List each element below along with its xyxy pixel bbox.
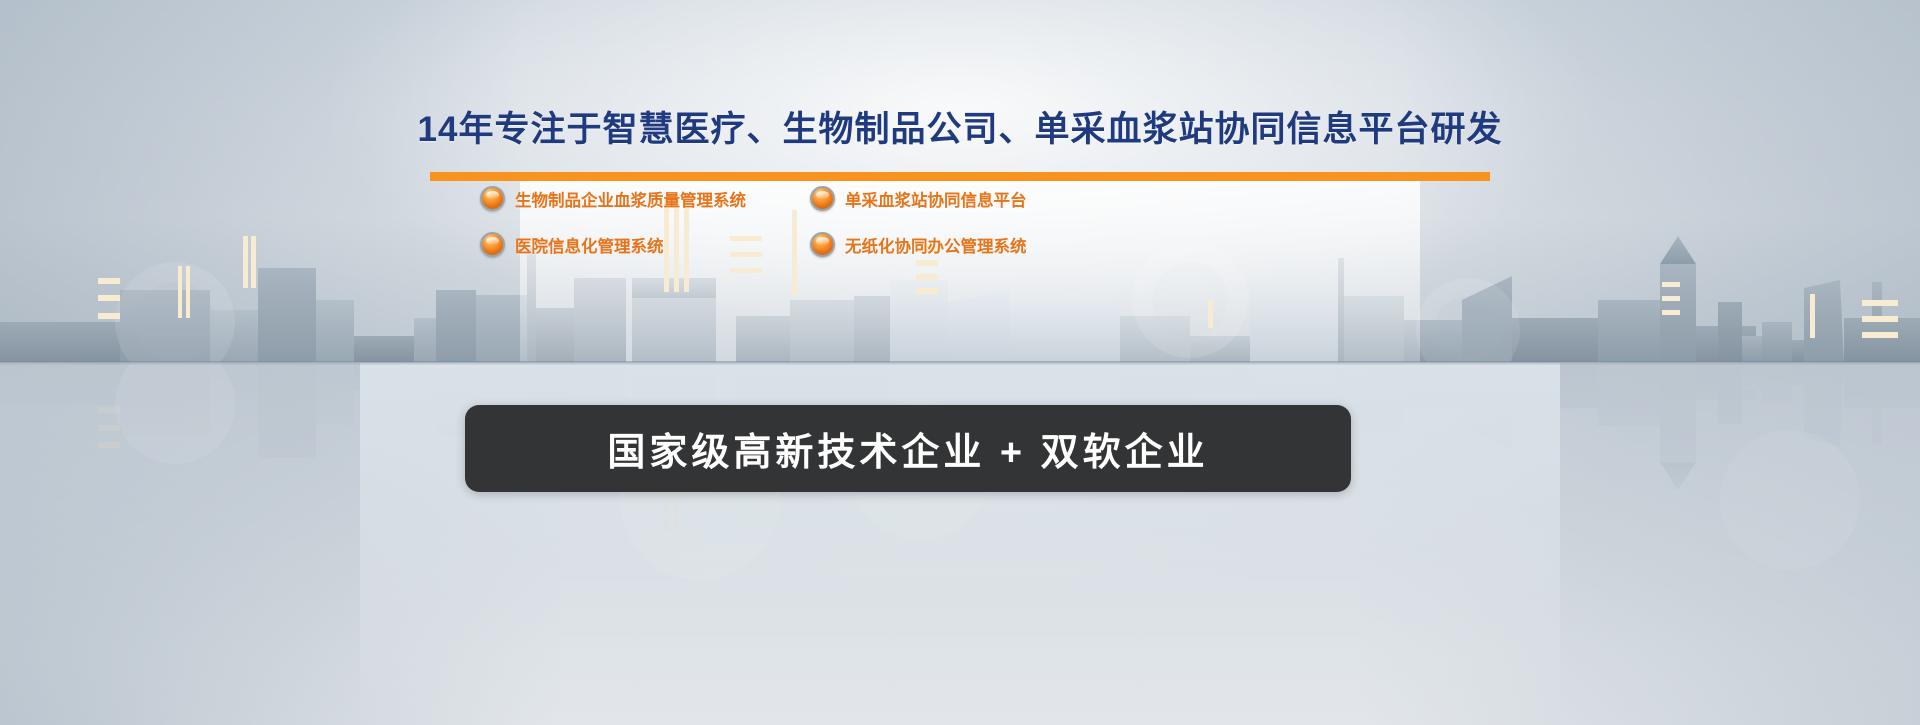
certification-badge: 国家级高新技术企业 + 双软企业 xyxy=(465,405,1351,492)
badge-label: 国家级高新技术企业 + 双软企业 xyxy=(607,421,1208,476)
title-underline-bar xyxy=(430,172,1490,181)
page-title: 14年专注于智慧医疗、生物制品公司、单采血浆站协同信息平台研发 xyxy=(0,101,1920,152)
feature-item-3[interactable]: 医院信息化管理系统 xyxy=(480,232,664,257)
orange-sphere-bullet-icon xyxy=(810,186,835,211)
feature-label: 生物制品企业血浆质量管理系统 xyxy=(515,187,746,211)
orange-sphere-bullet-icon xyxy=(810,232,835,257)
feature-item-2[interactable]: 单采血浆站协同信息平台 xyxy=(810,186,1027,211)
feature-item-1[interactable]: 生物制品企业血浆质量管理系统 xyxy=(480,186,746,211)
feature-list: 生物制品企业血浆质量管理系统 单采血浆站协同信息平台 医院信息化管理系统 无纸化… xyxy=(480,186,1180,276)
feature-label: 无纸化协同办公管理系统 xyxy=(845,233,1027,257)
orange-sphere-bullet-icon xyxy=(480,186,505,211)
feature-label: 单采血浆站协同信息平台 xyxy=(845,187,1027,211)
hero-banner: 14年专注于智慧医疗、生物制品公司、单采血浆站协同信息平台研发 生物制品企业血浆… xyxy=(0,0,1920,725)
feature-label: 医院信息化管理系统 xyxy=(515,233,664,257)
orange-sphere-bullet-icon xyxy=(480,232,505,257)
feature-item-4[interactable]: 无纸化协同办公管理系统 xyxy=(810,232,1027,257)
banner-content: 14年专注于智慧医疗、生物制品公司、单采血浆站协同信息平台研发 生物制品企业血浆… xyxy=(0,0,1920,725)
